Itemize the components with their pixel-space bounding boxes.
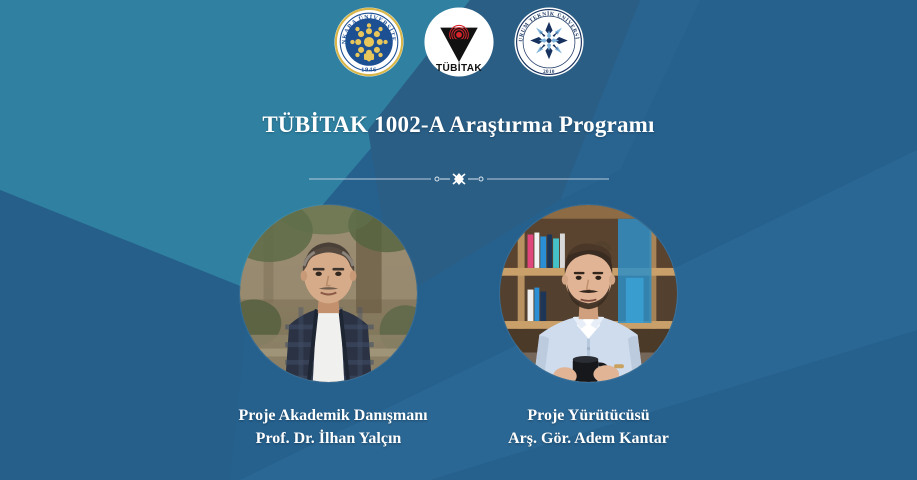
svg-text:TÜBİTAK: TÜBİTAK — [436, 61, 482, 74]
page-title: TÜBİTAK 1002-A Araştırma Programı — [0, 112, 917, 138]
poster-canvas: ANKARA ÜNİVERSİTESİ 1946 TÜBİTAK — [0, 0, 917, 480]
tubitak-logo: TÜBİTAK — [423, 6, 495, 78]
logo-row: ANKARA ÜNİVERSİTESİ 1946 TÜBİTAK — [0, 6, 917, 78]
svg-text:1946: 1946 — [361, 67, 377, 74]
avatar — [500, 205, 677, 382]
person-caption: Proje Akademik Danışmanı Prof. Dr. İlhan… — [239, 405, 419, 450]
title-block: TÜBİTAK 1002-A Araştırma Programı — [0, 112, 917, 138]
avatar — [240, 205, 417, 382]
diamond-divider-icon — [309, 172, 609, 186]
person-name: Prof. Dr. İlhan Yalçın — [239, 428, 419, 451]
person-role: Proje Yürütücüsü — [499, 405, 679, 428]
person-card-advisor: Proje Akademik Danışmanı Prof. Dr. İlhan… — [239, 205, 419, 450]
people-row: Proje Akademik Danışmanı Prof. Dr. İlhan… — [0, 205, 917, 450]
person-name: Arş. Gör. Adem Kantar — [499, 428, 679, 451]
person-card-lead: Proje Yürütücüsü Arş. Gör. Adem Kantar — [499, 205, 679, 450]
ankara-universitesi-logo: ANKARA ÜNİVERSİTESİ 1946 — [333, 6, 405, 78]
erzurum-teknik-universitesi-logo: ERZURUM TEKNİK ÜNİVERSİTESİ 2010 — [513, 6, 585, 78]
portrait-young-man-light-blue-shirt-bookshelf — [500, 205, 677, 382]
person-caption: Proje Yürütücüsü Arş. Gör. Adem Kantar — [499, 405, 679, 450]
portrait-older-man-plaid-shirt-outdoors — [240, 205, 417, 382]
person-role: Proje Akademik Danışmanı — [239, 405, 419, 428]
svg-text:2010: 2010 — [543, 69, 555, 75]
